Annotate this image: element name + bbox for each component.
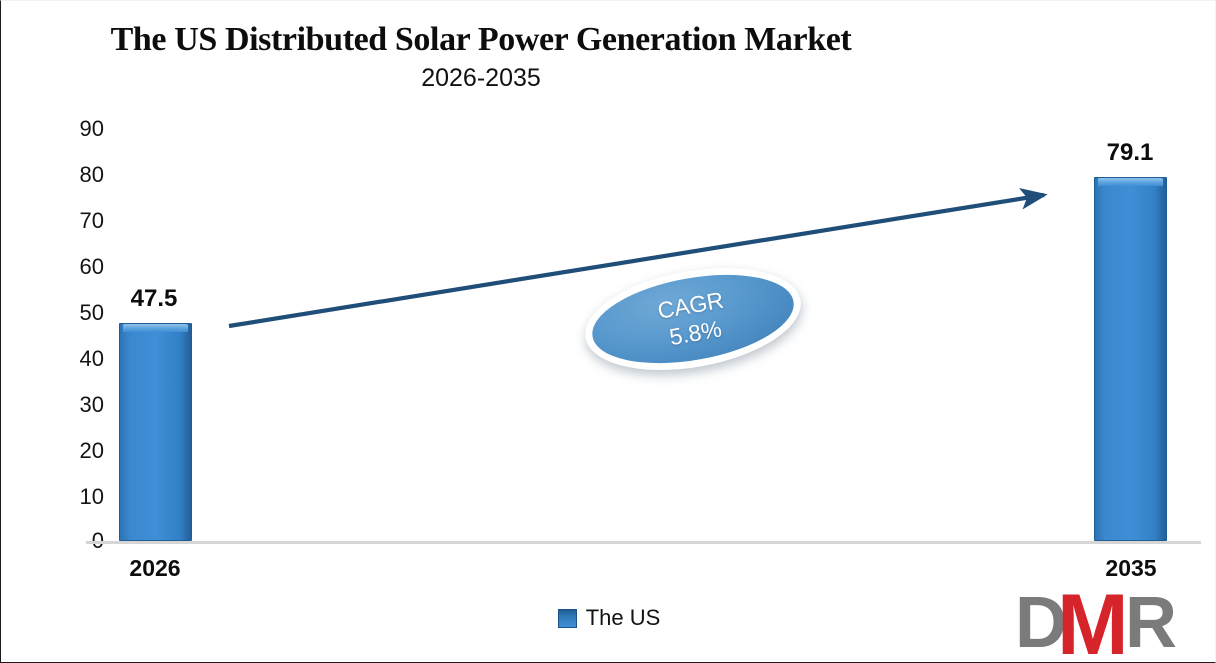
svg-text:M: M bbox=[1057, 584, 1129, 658]
y-axis-tick-90: 90 bbox=[58, 116, 104, 142]
plot-area: 90 80 70 60 50 40 30 20 10 0 47.5 79.1 2… bbox=[86, 119, 1201, 543]
cagr-bubble-text: CAGR 5.8% bbox=[577, 253, 808, 385]
x-axis-tick-2026: 2026 bbox=[75, 555, 235, 582]
y-axis-tick-20: 20 bbox=[58, 438, 104, 464]
chart-figure: The US Distributed Solar Power Generatio… bbox=[0, 0, 1216, 663]
legend-item-label: The US bbox=[586, 605, 661, 631]
x-axis-baseline bbox=[86, 541, 1201, 544]
cagr-callout-bubble[interactable]: CAGR 5.8% bbox=[577, 253, 808, 385]
chart-title: The US Distributed Solar Power Generatio… bbox=[1, 21, 961, 59]
y-axis-tick-40: 40 bbox=[58, 346, 104, 372]
y-axis-tick-60: 60 bbox=[58, 254, 104, 280]
bar-value-label-2035: 79.1 bbox=[1060, 139, 1200, 167]
legend-item-the-us[interactable]: The US bbox=[558, 605, 661, 631]
dmr-logo-icon: D R M bbox=[1017, 584, 1207, 658]
y-axis-tick-70: 70 bbox=[58, 208, 104, 234]
y-axis-tick-10: 10 bbox=[58, 484, 104, 510]
svg-text:R: R bbox=[1125, 584, 1177, 658]
bar-2035[interactable] bbox=[1094, 177, 1167, 541]
y-axis-tick-30: 30 bbox=[58, 392, 104, 418]
legend-swatch-icon bbox=[558, 609, 577, 628]
x-axis-tick-2035: 2035 bbox=[1051, 555, 1211, 582]
bar-value-label-2026: 47.5 bbox=[84, 285, 224, 313]
bar-2026[interactable] bbox=[119, 323, 192, 541]
y-axis-tick-80: 80 bbox=[58, 162, 104, 188]
chart-subtitle: 2026-2035 bbox=[1, 64, 961, 93]
